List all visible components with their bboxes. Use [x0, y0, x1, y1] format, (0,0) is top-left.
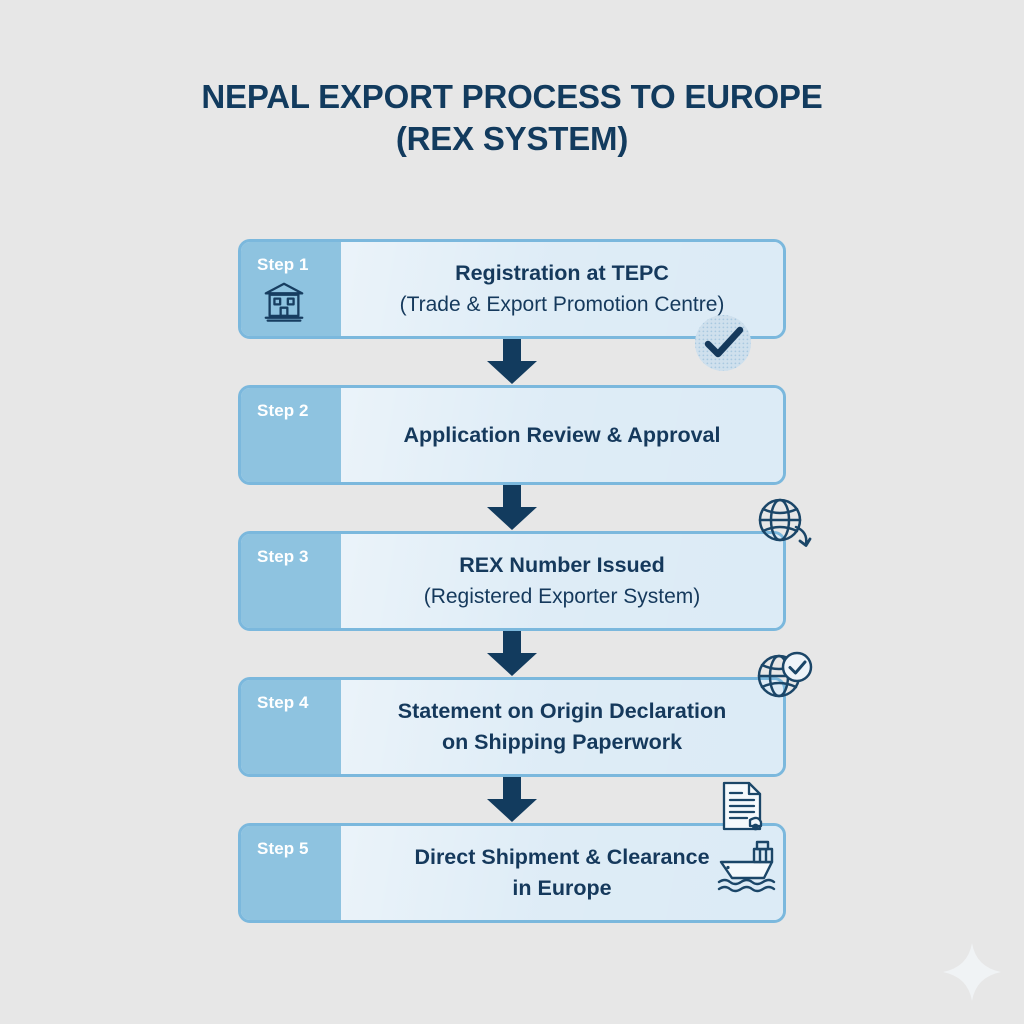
flow-step-3[interactable]: Step 3 REX Number Issued (Registered Exp… — [238, 531, 786, 631]
step-3-label-pane: Step 3 — [241, 534, 341, 628]
title-line-2: (REX SYSTEM) — [0, 118, 1024, 160]
title-line-1: NEPAL EXPORT PROCESS TO EUROPE — [0, 76, 1024, 118]
down-arrow-icon — [481, 777, 543, 823]
step-2-line-1: Application Review & Approval — [404, 420, 721, 451]
step-5-line-1: Direct Shipment & Clearance — [414, 842, 709, 873]
down-arrow-icon — [481, 339, 543, 385]
flow-step-2[interactable]: Step 2 Application Review & Approval — [238, 385, 786, 485]
step-3-body: REX Number Issued (Registered Exporter S… — [341, 534, 783, 628]
step-2-label: Step 2 — [257, 401, 341, 421]
page-title: NEPAL EXPORT PROCESS TO EUROPE (REX SYST… — [0, 76, 1024, 160]
down-arrow-icon — [481, 485, 543, 531]
sparkle-icon — [941, 941, 1003, 1003]
down-arrow-icon — [481, 631, 543, 677]
infographic-canvas: NEPAL EXPORT PROCESS TO EUROPE (REX SYST… — [0, 0, 1024, 1024]
step-4-body: Statement on Origin Declaration on Shipp… — [341, 680, 783, 774]
cargo-ship-icon — [716, 838, 782, 894]
step-3-line-1: REX Number Issued — [459, 550, 665, 581]
connector-4 — [238, 777, 786, 823]
flow-step-5[interactable]: Step 5 Direct Shipment & Clearance in Eu… — [238, 823, 786, 923]
document-stamp-icon — [717, 780, 769, 832]
globe-arrow-icon — [756, 496, 812, 550]
flow-step-4[interactable]: Step 4 Statement on Origin Declaration o… — [238, 677, 786, 777]
step-3-label: Step 3 — [257, 547, 341, 567]
step-5-line-2: in Europe — [512, 873, 611, 904]
step-5-label: Step 5 — [257, 839, 341, 859]
bank-building-icon — [261, 278, 307, 324]
step-4-label: Step 4 — [257, 693, 341, 713]
check-circle-icon — [694, 314, 752, 372]
step-1-line-1: Registration at TEPC — [455, 258, 669, 289]
step-1-line-2: (Trade & Export Promotion Centre) — [400, 289, 725, 320]
step-2-label-pane: Step 2 — [241, 388, 341, 482]
globe-check-icon — [757, 649, 813, 703]
connector-3 — [238, 631, 786, 677]
connector-2 — [238, 485, 786, 531]
step-1-label-pane: Step 1 — [241, 242, 341, 336]
step-4-line-1: Statement on Origin Declaration — [398, 696, 727, 727]
step-2-body: Application Review & Approval — [341, 388, 783, 482]
step-5-label-pane: Step 5 — [241, 826, 341, 920]
step-4-label-pane: Step 4 — [241, 680, 341, 774]
step-3-line-2: (Registered Exporter System) — [424, 581, 701, 612]
step-1-label: Step 1 — [257, 255, 341, 275]
step-4-line-2: on Shipping Paperwork — [442, 727, 682, 758]
